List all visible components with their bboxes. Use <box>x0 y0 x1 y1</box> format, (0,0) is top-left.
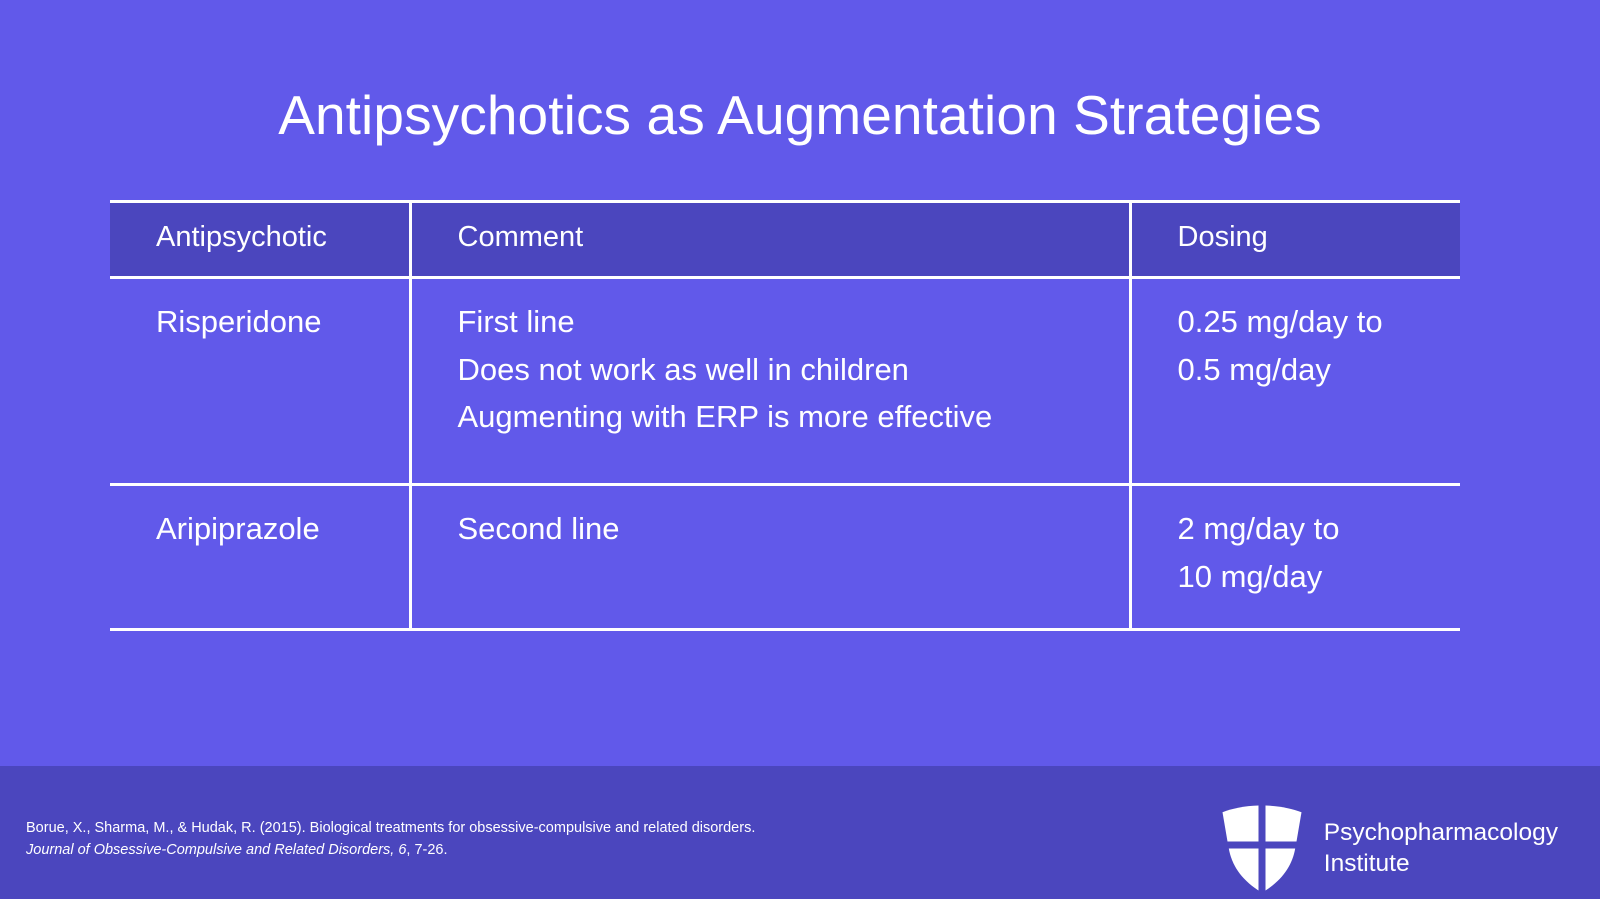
cell-comment-aripiprazole: Second line <box>410 485 1130 630</box>
dosing-line: 2 mg/day to <box>1178 506 1451 552</box>
table-header-row: Antipsychotic Comment Dosing <box>110 202 1460 278</box>
dosing-line: 0.25 mg/day to <box>1178 299 1451 345</box>
comment-line: Augmenting with ERP is more effective <box>458 394 1119 440</box>
table-row: Aripiprazole Second line 2 mg/day to 10 … <box>110 485 1460 630</box>
cell-dosing-aripiprazole: 2 mg/day to 10 mg/day <box>1130 485 1460 630</box>
comment-line: First line <box>458 299 1119 345</box>
brand-logo: Psychopharmacology Institute <box>1218 799 1558 897</box>
cell-antipsychotic-aripiprazole: Aripiprazole <box>110 485 410 630</box>
citation-line-2: Journal of Obsessive-Compulsive and Rela… <box>26 839 755 861</box>
shield-quadrant-logo-icon <box>1218 799 1306 897</box>
cell-dosing-risperidone: 0.25 mg/day to 0.5 mg/day <box>1130 278 1460 485</box>
brand-name-line-1: Psychopharmacology <box>1324 817 1558 848</box>
citation-journal-title: Journal of Obsessive-Compulsive and Rela… <box>26 842 390 858</box>
dosing-line: 10 mg/day <box>1178 554 1451 600</box>
antipsychotics-table-container: Antipsychotic Comment Dosing Risperidone… <box>110 200 1460 631</box>
cell-antipsychotic-risperidone: Risperidone <box>110 278 410 485</box>
citation: Borue, X., Sharma, M., & Hudak, R. (2015… <box>26 817 755 861</box>
table-row: Risperidone First line Does not work as … <box>110 278 1460 485</box>
comment-line: Second line <box>458 506 1119 552</box>
citation-volume: , 6 <box>390 842 406 858</box>
brand-name-line-2: Institute <box>1324 848 1558 879</box>
citation-pages: , 7-26. <box>406 842 447 858</box>
brand-logo-text: Psychopharmacology Institute <box>1324 817 1558 880</box>
footer-band: Borue, X., Sharma, M., & Hudak, R. (2015… <box>0 766 1600 899</box>
comment-line: Does not work as well in children <box>458 347 1119 393</box>
column-header-antipsychotic: Antipsychotic <box>110 202 410 278</box>
slide-canvas: Antipsychotics as Augmentation Strategie… <box>0 0 1600 899</box>
antipsychotics-table: Antipsychotic Comment Dosing Risperidone… <box>110 200 1460 631</box>
page-title: Antipsychotics as Augmentation Strategie… <box>0 83 1600 148</box>
citation-line-1: Borue, X., Sharma, M., & Hudak, R. (2015… <box>26 817 755 839</box>
table-body: Risperidone First line Does not work as … <box>110 278 1460 630</box>
column-header-dosing: Dosing <box>1130 202 1460 278</box>
table-header: Antipsychotic Comment Dosing <box>110 202 1460 278</box>
cell-comment-risperidone: First line Does not work as well in chil… <box>410 278 1130 485</box>
column-header-comment: Comment <box>410 202 1130 278</box>
dosing-line: 0.5 mg/day <box>1178 347 1451 393</box>
